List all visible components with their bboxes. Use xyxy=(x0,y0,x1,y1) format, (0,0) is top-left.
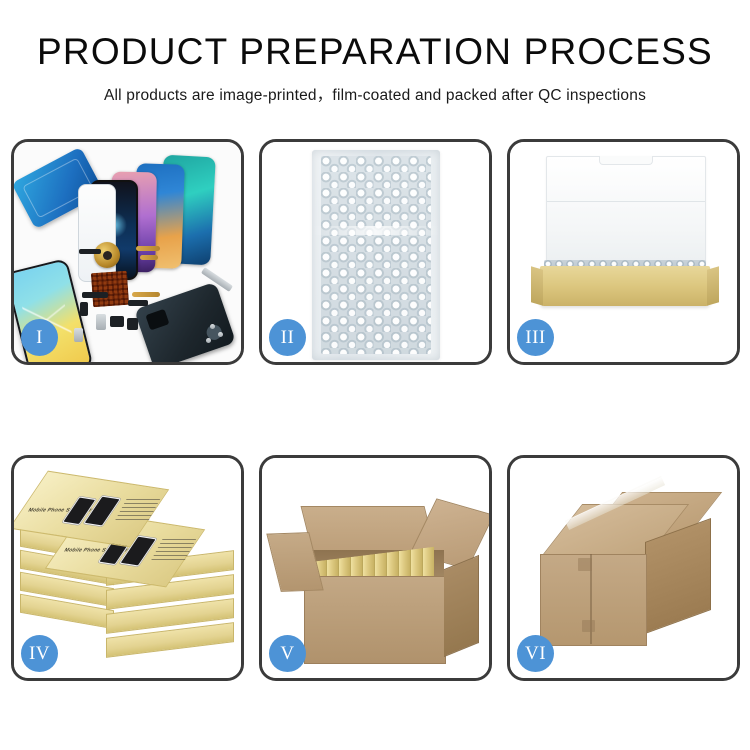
step-panel-4: Mobile Phone Spare Parts Mobile Phone Sp… xyxy=(11,455,244,681)
carton-front-face xyxy=(304,576,446,664)
sealed-carton-front-face xyxy=(540,554,647,646)
small-part-screw-1 xyxy=(210,324,215,329)
step-badge-2: II xyxy=(269,319,306,356)
small-part-vibrator xyxy=(128,300,148,306)
step-badge-5: V xyxy=(269,635,306,672)
box-lid-spec-text-1 xyxy=(115,498,161,520)
box-tray-left-flap xyxy=(531,266,543,305)
kraft-box-tray xyxy=(540,266,710,306)
step-panel-3: III xyxy=(507,139,740,365)
carton-side-face xyxy=(444,555,479,657)
step-badge-6: VI xyxy=(517,635,554,672)
small-part-speaker xyxy=(110,316,124,327)
step-badge-3: III xyxy=(517,319,554,356)
small-part-button-flex xyxy=(82,292,108,298)
page-subtitle: All products are image-printed，film-coat… xyxy=(0,83,750,105)
carton-flap-patch-top xyxy=(578,558,592,571)
bubble-wrap-texture xyxy=(321,156,431,354)
process-steps-grid: I II III xyxy=(11,139,740,681)
carton-flap-patch-bottom xyxy=(582,620,595,632)
step-badge-4: IV xyxy=(21,635,58,672)
step-panel-2: II xyxy=(259,139,492,365)
bubble-wrap-pouch xyxy=(312,150,440,360)
step-badge-1: I xyxy=(21,319,58,356)
small-part-bracket xyxy=(80,302,88,316)
page-title: PRODUCT PREPARATION PROCESS xyxy=(0,33,750,72)
speaker-coil-part xyxy=(94,242,120,268)
step-panel-6: VI xyxy=(507,455,740,681)
small-part-flex-cable-1 xyxy=(136,246,160,251)
small-part-sim-tray xyxy=(74,328,83,342)
small-part-flex-cable-2 xyxy=(140,255,158,260)
box-tray-right-flap xyxy=(707,266,719,305)
small-part-flex-cable-3 xyxy=(132,292,160,297)
copper-shield-mesh xyxy=(91,271,129,307)
box-lid-tab xyxy=(599,156,653,165)
step-panel-1: I xyxy=(11,139,244,365)
step-panel-5: V xyxy=(259,455,492,681)
small-part-camera-module xyxy=(96,314,106,330)
small-part-connector xyxy=(79,249,101,254)
bubble-wrap-highlight xyxy=(312,226,440,235)
small-part-screw-2 xyxy=(218,332,223,337)
small-part-taptic xyxy=(127,318,138,330)
page-header: PRODUCT PREPARATION PROCESS All products… xyxy=(0,0,750,105)
small-part-screw-3 xyxy=(206,338,211,343)
